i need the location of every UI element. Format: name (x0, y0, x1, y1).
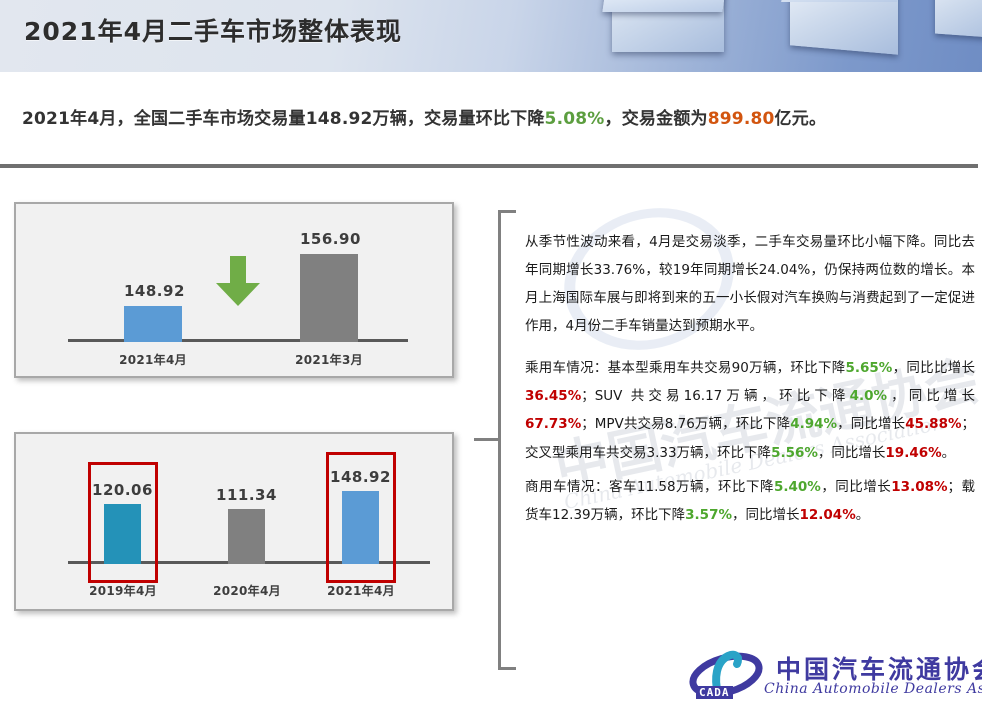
chart2-bar-0: 120.06 (104, 504, 141, 564)
summary-statement: 2021年4月，全国二手车市场交易量148.92万辆，交易量环比下降5.08%，… (22, 104, 962, 129)
analysis-text-column: 从季节性波动来看，4月是交易淡季，二手车交易量环比小幅下降。同比去年同期增长33… (525, 228, 975, 535)
analysis-paragraph-2: 乘用车情况：基本型乘用车共交易90万辆，环比下降5.65%，同比比增长36.45… (525, 354, 975, 466)
chart1-bar-0-value: 148.92 (124, 282, 182, 300)
chart-panel-yoy: 120.06 2019年4月 111.34 2020年4月 148.92 202… (14, 432, 454, 611)
analysis-paragraph-3: 商用车情况：客车11.58万辆，环比下降5.40%，同比增长13.08%；载货车… (525, 473, 975, 529)
logo-name-en: China Automobile Dealers Association (764, 681, 982, 697)
chart2-category-0: 2019年4月 (71, 582, 175, 599)
summary-suffix: 亿元。 (775, 109, 827, 129)
chart1-bar-0: 148.92 (124, 306, 182, 342)
summary-mom-value: 5.08% (545, 109, 605, 129)
page-header-banner: 2021年4月二手车市场整体表现 (0, 0, 982, 72)
chart2-category-1: 2020年4月 (195, 582, 299, 599)
chart2-bar-1: 111.34 (228, 509, 265, 564)
chart1-bar-1: 156.90 (300, 254, 358, 342)
page-title: 2021年4月二手车市场整体表现 (24, 12, 402, 48)
summary-prefix: 2021年4月，全国二手车市场交易量148.92万辆，交易量环比下降 (22, 109, 545, 129)
summary-amount-value: 899.80 (708, 109, 775, 129)
header-divider-rule (0, 164, 978, 168)
chart2-category-2: 2021年4月 (309, 582, 413, 599)
chart2-bar-2-value: 148.92 (320, 468, 401, 486)
chart2-bar-2: 148.92 (342, 491, 379, 564)
chart1-plot-area: 148.92 2021年4月 156.90 2021年3月 (16, 204, 452, 376)
chart2-bar-0-value: 120.06 (82, 481, 163, 499)
analysis-paragraph-1: 从季节性波动来看，4月是交易淡季，二手车交易量环比小幅下降。同比去年同期增长33… (525, 228, 975, 340)
chart1-category-0: 2021年4月 (104, 351, 202, 368)
chart1-category-1: 2021年3月 (280, 351, 378, 368)
cada-logo: 中国汽车流通协会 China Automobile Dealers Associ… (688, 648, 978, 704)
summary-middle: ，交易金额为 (605, 109, 708, 129)
chart-panel-mom: 148.92 2021年4月 156.90 2021年3月 (14, 202, 454, 378)
bracket-connector (460, 206, 520, 674)
green-down-arrow-icon (213, 256, 263, 312)
logo-abbr: CADA (696, 686, 733, 699)
chart2-plot-area: 120.06 2019年4月 111.34 2020年4月 148.92 202… (16, 434, 452, 609)
chart1-bar-1-value: 156.90 (300, 230, 358, 248)
chart2-bar-1-value: 111.34 (206, 486, 287, 504)
